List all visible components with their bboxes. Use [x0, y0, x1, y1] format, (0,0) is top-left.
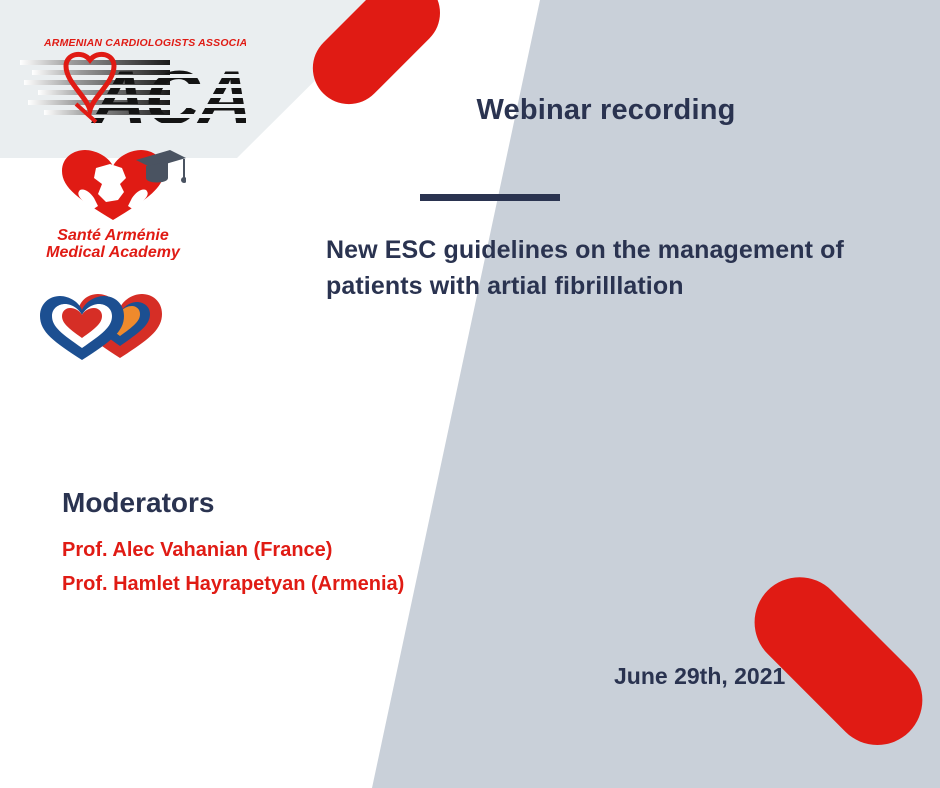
webinar-recording-heading: Webinar recording	[326, 94, 886, 127]
aca-tagline: ARMENIAN CARDIOLOGISTS ASSOCIATION	[43, 37, 246, 49]
sante-armenie-medical-academy-logo: Santé Arménie Medical Academy	[40, 144, 186, 260]
moderator-item: Prof. Alec Vahanian (France)	[62, 533, 404, 567]
event-date: June 29th, 2021	[614, 663, 785, 690]
moderator-item: Prof. Hamlet Hayrapetyan (Armenia)	[62, 567, 404, 601]
moderator-list: Prof. Alec Vahanian (France) Prof. Hamle…	[62, 533, 404, 602]
armenian-cardiologists-association-logo: ACA ARMENIAN CARDIOLOGISTS ASSOCIATION	[18, 30, 246, 130]
sante-line-1: Santé Arménie	[57, 227, 169, 244]
sante-line-2: Medical Academy	[46, 244, 181, 260]
webinar-poster: ACA ARMENIAN CARDIOLOGISTS ASSOCIATION	[0, 0, 940, 788]
twin-hearts-logo	[34, 276, 166, 362]
title-divider	[420, 194, 560, 201]
moderators-heading: Moderators	[62, 487, 214, 519]
talk-title: New ESC guidelines on the management of …	[326, 233, 866, 304]
